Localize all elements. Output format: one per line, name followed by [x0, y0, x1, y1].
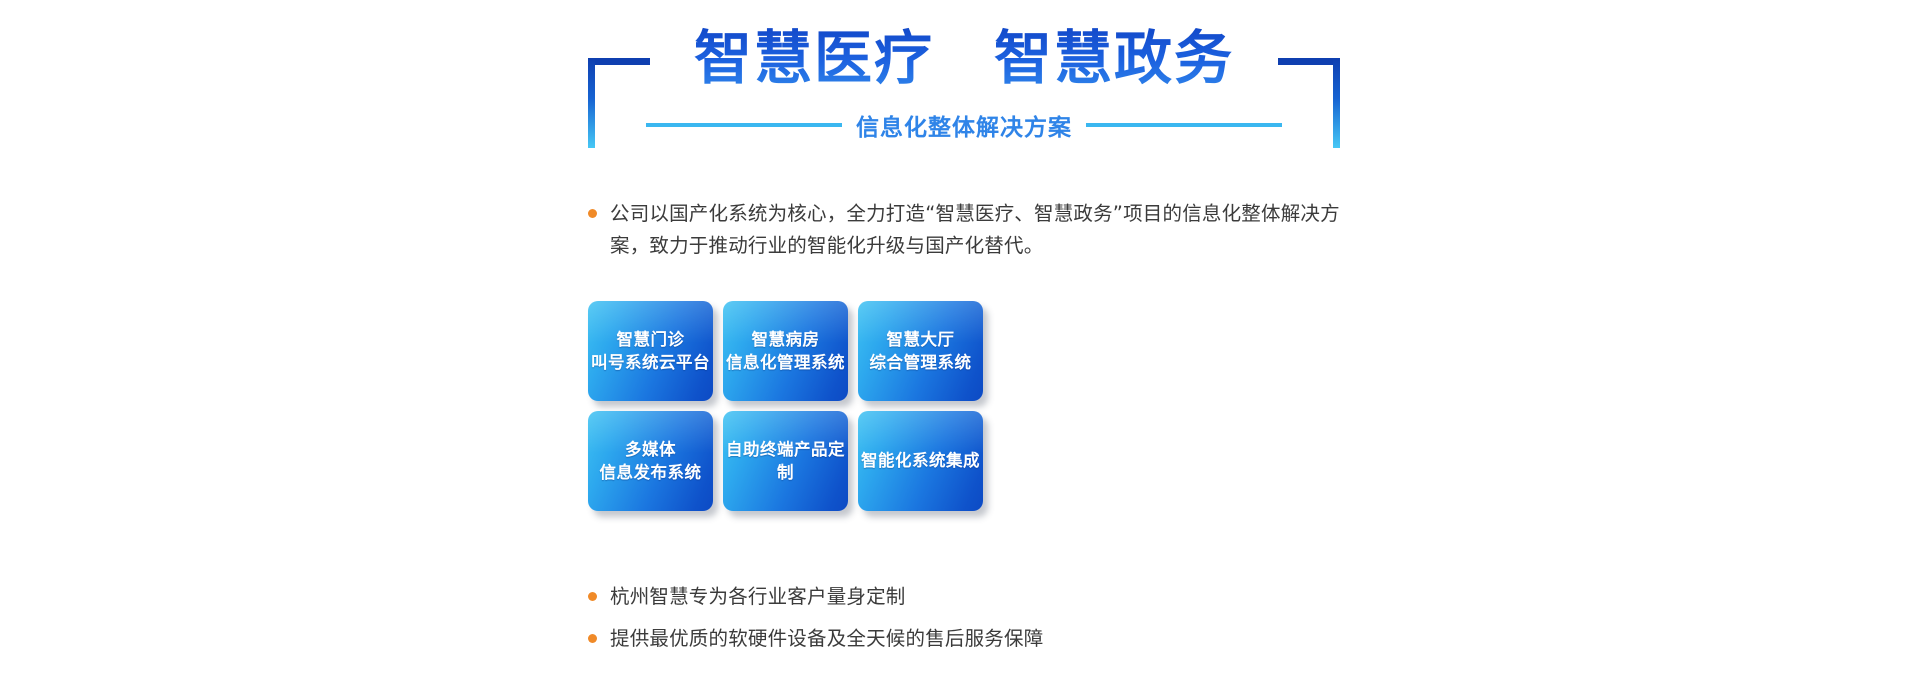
- solution-card-label: 智慧病房 信息化管理系统: [726, 328, 845, 375]
- solution-card[interactable]: 智能化系统集成: [858, 411, 983, 511]
- intro-paragraph-text: 公司以国产化系统为核心，全力打造“智慧医疗、智慧政务”项目的信息化整体解决方案，…: [610, 198, 1378, 261]
- solution-card-label: 智慧门诊 叫号系统云平台: [591, 328, 710, 375]
- page-canvas: 智慧医疗 智慧政务 信息化整体解决方案 公司以国产化系统为核心，全力打造“智慧医…: [0, 0, 1920, 680]
- footer-bullet-item: 杭州智慧专为各行业客户量身定制: [588, 585, 1348, 609]
- page-subtitle: 信息化整体解决方案: [856, 108, 1072, 142]
- bullet-dot-icon: [588, 209, 597, 218]
- solution-card[interactable]: 智慧病房 信息化管理系统: [723, 301, 848, 401]
- footer-bullet-list: 杭州智慧专为各行业客户量身定制 提供最优质的软硬件设备及全天候的售后服务保障: [588, 585, 1348, 670]
- solution-card-label: 智能化系统集成: [861, 449, 980, 472]
- solution-card[interactable]: 自助终端产品定制: [723, 411, 848, 511]
- bullet-dot-icon: [588, 634, 597, 643]
- subtitle-row: 信息化整体解决方案: [588, 108, 1340, 142]
- bullet-dot-icon: [588, 592, 597, 601]
- solution-card[interactable]: 智慧大厅 综合管理系统: [858, 301, 983, 401]
- solution-card-label: 智慧大厅 综合管理系统: [870, 328, 972, 375]
- footer-bullet-text: 提供最优质的软硬件设备及全天候的售后服务保障: [610, 627, 1043, 651]
- subtitle-rule-right: [1086, 123, 1282, 127]
- solution-card[interactable]: 多媒体 信息发布系统: [588, 411, 713, 511]
- footer-bullet-text: 杭州智慧专为各行业客户量身定制: [610, 585, 906, 609]
- solution-card-label: 自助终端产品定制: [723, 438, 848, 485]
- solution-card[interactable]: 智慧门诊 叫号系统云平台: [588, 301, 713, 401]
- intro-paragraph: 公司以国产化系统为核心，全力打造“智慧医疗、智慧政务”项目的信息化整体解决方案，…: [588, 198, 1378, 261]
- subtitle-rule-left: [646, 123, 842, 127]
- solution-card-label: 多媒体 信息发布系统: [600, 438, 702, 485]
- solution-card-grid: 智慧门诊 叫号系统云平台 智慧病房 信息化管理系统 智慧大厅 综合管理系统 多媒…: [588, 301, 1348, 511]
- footer-bullet-item: 提供最优质的软硬件设备及全天候的售后服务保障: [588, 627, 1348, 651]
- page-title: 智慧医疗 智慧政务: [588, 26, 1340, 91]
- header-block: 智慧医疗 智慧政务 信息化整体解决方案: [588, 58, 1340, 148]
